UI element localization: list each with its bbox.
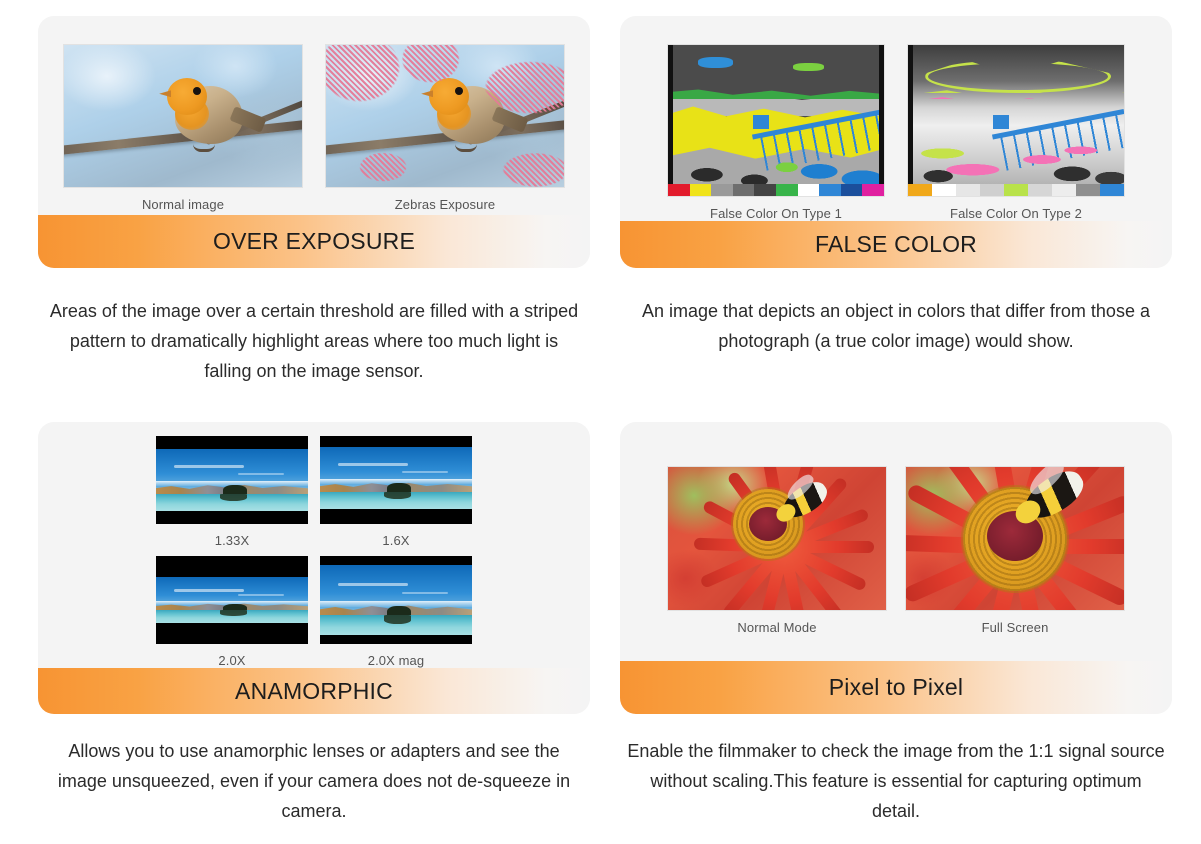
scale-swatch (1076, 184, 1100, 196)
letterbox-bottom (156, 623, 308, 644)
feature-title: OVER EXPOSURE (213, 228, 415, 255)
thumbnail-false-color-type-1[interactable]: False Color On Type 1 (667, 44, 885, 221)
scale-swatch (668, 184, 690, 196)
scale-swatch (1028, 184, 1052, 196)
thumbnail-caption: False Color On Type 2 (950, 206, 1082, 221)
letterbox-bottom (156, 511, 308, 524)
over-exposure-title-band: OVER EXPOSURE (38, 215, 590, 268)
letterbox-top (320, 436, 472, 447)
thumbnail-full-screen[interactable]: Full Screen (905, 466, 1125, 635)
false-color-scale-bar (668, 184, 884, 196)
lake-reflection (220, 494, 247, 501)
scale-swatch (733, 184, 755, 196)
anamorphic-description: Allows you to use anamorphic lenses or a… (38, 736, 590, 826)
thumbnail-zebras-exposure[interactable]: Zebras Exposure (325, 44, 565, 212)
scale-swatch (798, 184, 820, 196)
robin-photo-zebra (325, 44, 565, 188)
lake-cloud (402, 471, 448, 473)
robin-bird (421, 76, 517, 150)
anamorphic-card: 1.33X (38, 422, 590, 714)
robin-photo (63, 44, 303, 188)
lake-cloud (338, 583, 408, 586)
letterbox-top (156, 436, 308, 449)
feature-title: Pixel to Pixel (829, 674, 963, 701)
thumbnail-caption: Normal image (142, 197, 224, 212)
scale-swatch (932, 184, 956, 196)
feature-pixel-to-pixel: Normal Mode (620, 422, 1172, 844)
thumbnail-caption: Full Screen (982, 620, 1049, 635)
pier-left-edge-bar (668, 45, 673, 184)
feature-grid: Normal image (0, 0, 1201, 844)
pier-pavilion (753, 115, 769, 129)
lake-cloud (338, 463, 408, 466)
feature-false-color: False Color On Type 1 (620, 16, 1172, 406)
lake-reflection (384, 492, 411, 499)
lake-cloud (402, 592, 448, 594)
false-color-description: An image that depicts an object in color… (620, 296, 1172, 356)
false-color-thumbnails: False Color On Type 1 (620, 16, 1172, 221)
thumbnail-caption: Zebras Exposure (395, 197, 496, 212)
lake-cloud (174, 589, 244, 592)
pier-rocks (908, 145, 1124, 184)
thumbnail-anamorphic-20x[interactable]: 2.0X (156, 556, 308, 668)
scale-swatch (776, 184, 798, 196)
anamorphic-thumbnails: 1.33X (38, 422, 590, 668)
pier-right-edge-bar (879, 45, 884, 184)
feature-anamorphic: 1.33X (38, 422, 590, 844)
thumbnail-caption: False Color On Type 1 (710, 206, 842, 221)
scale-swatch (711, 184, 733, 196)
false-color-card: False Color On Type 1 (620, 16, 1172, 268)
thumbnail-caption: 1.6X (382, 533, 409, 548)
over-exposure-description: Areas of the image over a certain thresh… (38, 296, 590, 386)
pixel-to-pixel-description: Enable the filmmaker to check the image … (620, 736, 1172, 826)
scale-swatch (862, 184, 884, 196)
bee-flower-normal (667, 466, 887, 611)
over-exposure-thumbnails: Normal image (38, 16, 590, 215)
pier-falsecolor-2 (907, 44, 1125, 197)
feature-title: ANAMORPHIC (235, 678, 393, 705)
scale-swatch (908, 184, 932, 196)
scale-swatch (1004, 184, 1028, 196)
bee-flower-fullscreen (905, 466, 1125, 611)
robin-beak (421, 90, 433, 97)
pier-blue-patch (698, 57, 733, 68)
scale-swatch (819, 184, 841, 196)
scale-swatch (1100, 184, 1124, 196)
thumbnail-caption: 2.0X mag (368, 653, 424, 668)
lake-desqueeze (156, 436, 308, 524)
lake-reflection (384, 615, 411, 623)
pixel-to-pixel-thumbnails: Normal Mode (620, 422, 1172, 661)
thumbnail-caption: Normal Mode (737, 620, 816, 635)
lake-desqueeze (320, 436, 472, 524)
lake-cloud (174, 465, 244, 468)
pier-green-patch (793, 63, 823, 71)
thumbnail-anamorphic-20x-mag[interactable]: 2.0X mag (320, 556, 472, 668)
pixel-to-pixel-card: Normal Mode (620, 422, 1172, 714)
feature-title: FALSE COLOR (815, 231, 977, 258)
over-exposure-card: Normal image (38, 16, 590, 268)
scale-swatch (841, 184, 863, 196)
false-color-scale-bar (908, 184, 1124, 196)
scale-swatch (754, 184, 776, 196)
thumbnail-anamorphic-133x[interactable]: 1.33X (156, 436, 308, 548)
feature-grid-page: Normal image (0, 0, 1201, 844)
thumbnail-caption: 2.0X (218, 653, 245, 668)
false-color-title-band: FALSE COLOR (620, 221, 1172, 268)
pier-left-edge-bar (908, 45, 913, 184)
feature-over-exposure: Normal image (38, 16, 590, 406)
pier-rocks (668, 142, 884, 184)
pixel-to-pixel-title-band: Pixel to Pixel (620, 661, 1172, 714)
pier-falsecolor-1 (667, 44, 885, 197)
thumbnail-normal-image[interactable]: Normal image (63, 44, 303, 212)
anamorphic-title-band: ANAMORPHIC (38, 668, 590, 714)
letterbox-bottom (320, 635, 472, 644)
pier-pavilion (993, 115, 1009, 129)
scale-swatch (690, 184, 712, 196)
lake-desqueeze (320, 556, 472, 644)
thumbnail-anamorphic-16x[interactable]: 1.6X (320, 436, 472, 548)
thumbnail-false-color-type-2[interactable]: False Color On Type 2 (907, 44, 1125, 221)
scale-swatch (1052, 184, 1076, 196)
letterbox-top (320, 556, 472, 565)
scale-swatch (956, 184, 980, 196)
robin-beak (159, 90, 171, 97)
lake-cloud (238, 473, 284, 475)
thumbnail-normal-mode[interactable]: Normal Mode (667, 466, 887, 635)
letterbox-bottom (320, 509, 472, 524)
thumbnail-caption: 1.33X (215, 533, 249, 548)
letterbox-top (156, 556, 308, 577)
scale-swatch (980, 184, 1004, 196)
robin-bird (159, 76, 255, 150)
lake-reflection (220, 610, 247, 616)
lake-desqueeze (156, 556, 308, 644)
